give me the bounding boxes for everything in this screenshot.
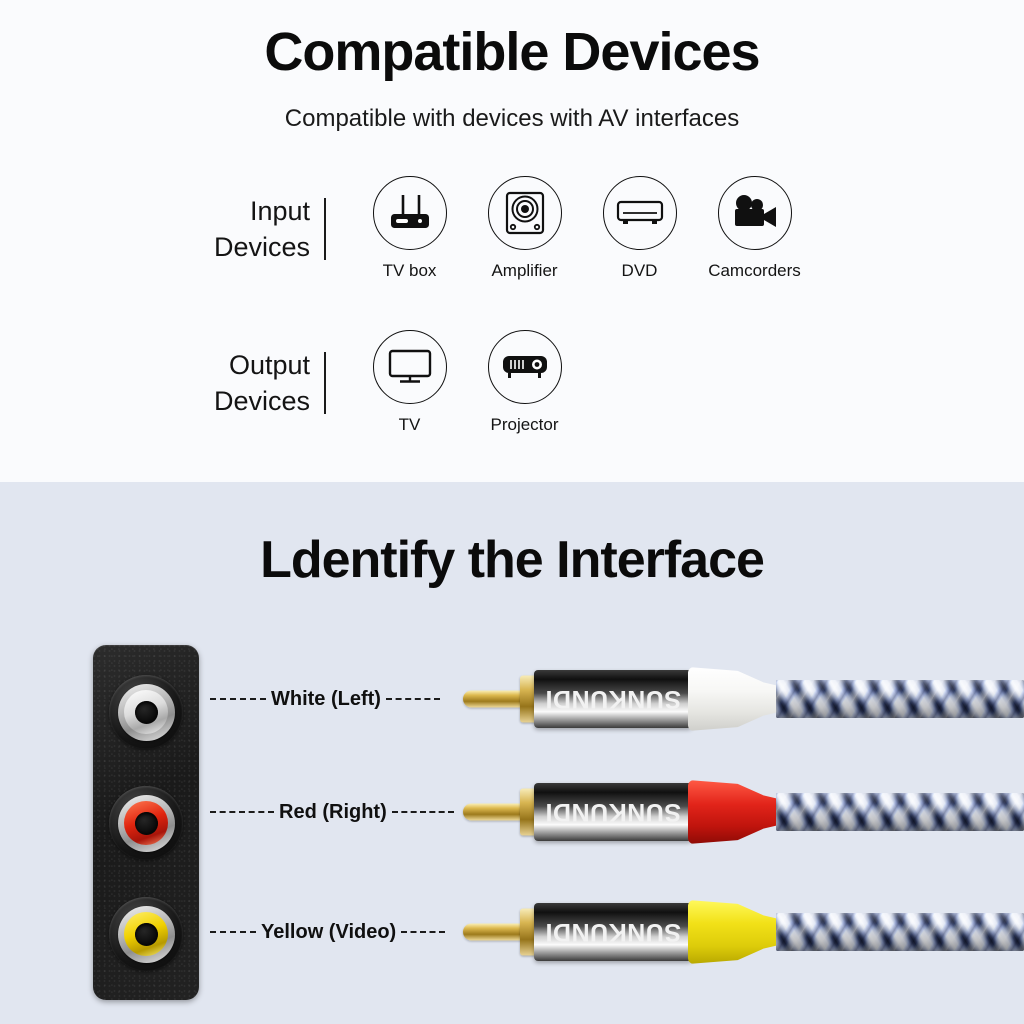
connector-boot-yellow	[688, 900, 780, 964]
input-divider	[324, 198, 326, 260]
leader-red: Red (Right)	[210, 797, 454, 827]
dash-left	[210, 811, 274, 813]
output-divider	[324, 352, 326, 414]
output-devices-label-line2: Devices	[150, 383, 310, 419]
braided-cable	[776, 913, 1024, 951]
gold-pin-icon	[463, 804, 525, 821]
router-icon	[373, 176, 447, 250]
camcorder-icon	[718, 176, 792, 250]
dash-right	[386, 698, 440, 700]
page-title: Compatible Devices	[0, 22, 1024, 82]
connector-barrel: SUNKUNDI	[534, 903, 692, 961]
device-tv-box: TV box	[352, 176, 467, 281]
leader-label-white: White (Left)	[266, 688, 386, 711]
device-dvd-label: DVD	[622, 261, 658, 281]
output-devices-label: Output Devices	[150, 347, 324, 419]
device-camcorders: Camcorders	[697, 176, 812, 281]
product-infographic: Compatible Devices Compatible with devic…	[0, 0, 1024, 1024]
device-amplifier-label: Amplifier	[491, 261, 557, 281]
device-camcorders-label: Camcorders	[708, 261, 801, 281]
device-tv-label: TV	[399, 415, 421, 435]
leader-label-red: Red (Right)	[274, 801, 392, 824]
dash-right	[401, 931, 445, 933]
input-devices-label-line2: Devices	[150, 229, 310, 265]
speaker-icon	[488, 176, 562, 250]
brand-label: SUNKUNDI	[534, 783, 692, 841]
input-devices-label: Input Devices	[150, 193, 324, 265]
input-devices-label-line1: Input	[150, 193, 310, 229]
input-devices-row: Input Devices TV box	[150, 176, 812, 281]
connector-yellow: SUNKUNDI	[0, 877, 1024, 987]
dash-right	[392, 811, 454, 813]
interface-title: Ldentify the Interface	[0, 530, 1024, 590]
dash-left	[210, 698, 266, 700]
gold-pin-icon	[463, 691, 525, 708]
connector-white: SUNKUNDI	[0, 644, 1024, 754]
leader-white: White (Left)	[210, 684, 440, 714]
dash-left	[210, 931, 256, 933]
gold-pin-icon	[463, 924, 525, 941]
device-dvd: DVD	[582, 176, 697, 281]
dvd-player-icon	[603, 176, 677, 250]
output-devices-label-line1: Output	[150, 347, 310, 383]
device-tv-box-label: TV box	[383, 261, 437, 281]
device-projector: Projector	[467, 330, 582, 435]
braided-cable	[776, 680, 1024, 718]
connector-barrel: SUNKUNDI	[534, 670, 692, 728]
connector-boot-red	[688, 780, 780, 844]
page-subtitle: Compatible with devices with AV interfac…	[0, 105, 1024, 133]
connector-red: SUNKUNDI	[0, 757, 1024, 867]
projector-icon	[488, 330, 562, 404]
connector-boot-white	[688, 667, 780, 731]
brand-label: SUNKUNDI	[534, 903, 692, 961]
connector-barrel: SUNKUNDI	[534, 783, 692, 841]
device-amplifier: Amplifier	[467, 176, 582, 281]
output-devices-row: Output Devices TV	[150, 330, 582, 435]
device-projector-label: Projector	[490, 415, 558, 435]
leader-yellow: Yellow (Video)	[210, 917, 445, 947]
leader-label-yellow: Yellow (Video)	[256, 921, 401, 944]
tv-icon	[373, 330, 447, 404]
braided-cable	[776, 793, 1024, 831]
brand-label: SUNKUNDI	[534, 670, 692, 728]
device-tv: TV	[352, 330, 467, 435]
